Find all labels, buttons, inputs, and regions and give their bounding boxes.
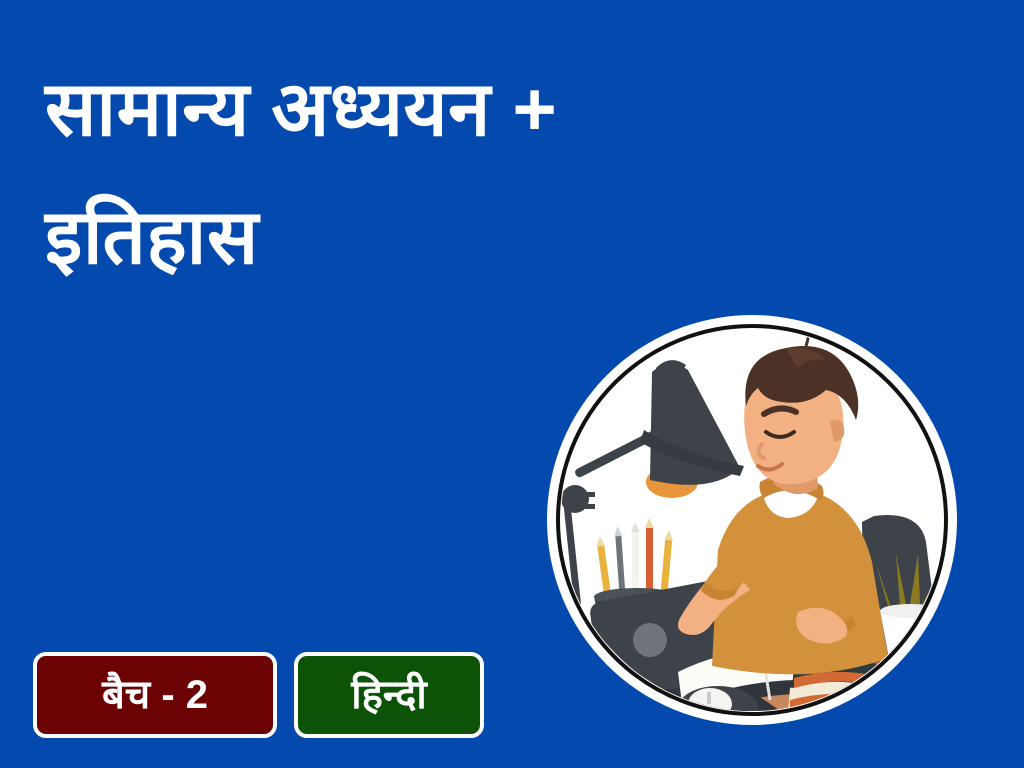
status-badge-batch[interactable]: बैच - 2 [33, 652, 277, 738]
course-banner: सामान्य अध्ययन + इतिहास [0, 0, 1024, 768]
title-line-1: सामान्य अध्ययन + [45, 46, 805, 174]
title-line-2: इतिहास [45, 174, 805, 302]
status-badge-language[interactable]: हिन्दी [294, 652, 484, 738]
illustration-circle [540, 310, 964, 734]
badge-row: बैच - 2 हिन्दी [33, 652, 484, 738]
page-title: सामान्य अध्ययन + इतिहास [45, 46, 805, 302]
